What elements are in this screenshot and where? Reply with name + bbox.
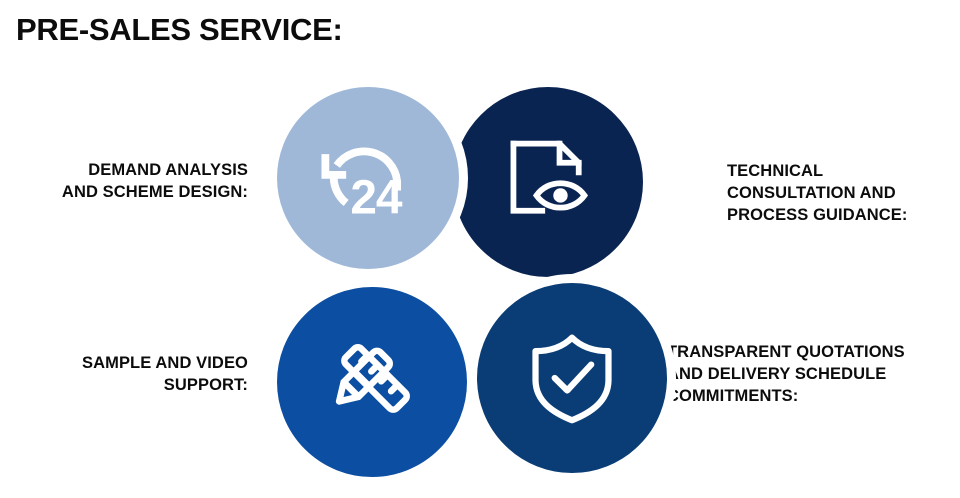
label-technical-consultation: TECHNICAL CONSULTATION AND PROCESS GUIDA… (727, 161, 955, 226)
document-eye-review-icon (500, 134, 596, 230)
label-demand-analysis: DEMAND ANALYSIS AND SCHEME DESIGN: (18, 160, 248, 204)
label-transparent-quotations: TRANSPARENT QUOTATIONS AND DELIVERY SCHE… (667, 342, 959, 407)
circle-transparent-quotations[interactable] (468, 274, 676, 482)
shield-check-icon (524, 330, 620, 426)
pencil-ruler-design-icon (322, 332, 422, 432)
circle-sample-video-support[interactable] (268, 278, 476, 486)
label-sample-video-support: SAMPLE AND VIDEO SUPPORT: (18, 353, 248, 397)
service-circle-cluster: 24 (268, 78, 676, 482)
circle-technical-consultation[interactable] (444, 78, 652, 286)
svg-text:24: 24 (350, 171, 403, 224)
circle-demand-analysis[interactable]: 24 (268, 78, 468, 278)
page-title: PRE-SALES SERVICE: (16, 12, 343, 48)
clock-24-arrow-icon: 24 (316, 126, 420, 230)
